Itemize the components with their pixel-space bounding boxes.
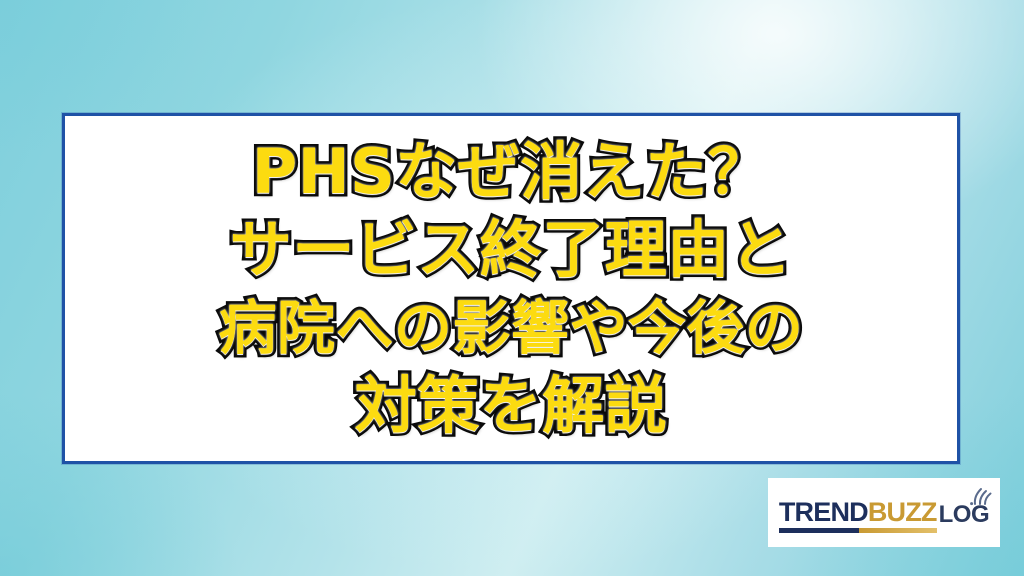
brand-word-trend: TREND	[779, 499, 868, 526]
thumbnail-canvas: PHSなぜ消えた？ サービス終了理由と 病院への影響や今後の 対策を解説 TRE…	[0, 0, 1024, 576]
brand-underline	[779, 528, 937, 533]
headline-card: PHSなぜ消えた？ サービス終了理由と 病院への影響や今後の 対策を解説	[62, 113, 960, 464]
wifi-signal-icon	[969, 484, 995, 506]
headline-line-2: サービス終了理由と	[75, 211, 947, 289]
headline-line-1: PHSなぜ消えた？	[75, 133, 947, 211]
brand-word-log: LOG	[939, 503, 990, 527]
brand-word-buzz: BUZZ	[868, 499, 937, 526]
headline-line-4: 対策を解説	[75, 367, 947, 445]
headline-line-3: 病院への影響や今後の	[75, 289, 947, 367]
brand-underline-navy	[779, 528, 859, 533]
headline-block: PHSなぜ消えた？ サービス終了理由と 病院への影響や今後の 対策を解説	[65, 133, 957, 445]
brand-logo-badge[interactable]: TRENDBUZZ LOG	[768, 478, 1000, 547]
brand-logo: TRENDBUZZ LOG	[775, 499, 993, 526]
brand-underline-gold	[859, 528, 937, 533]
brand-wordmark: TRENDBUZZ	[779, 499, 937, 526]
